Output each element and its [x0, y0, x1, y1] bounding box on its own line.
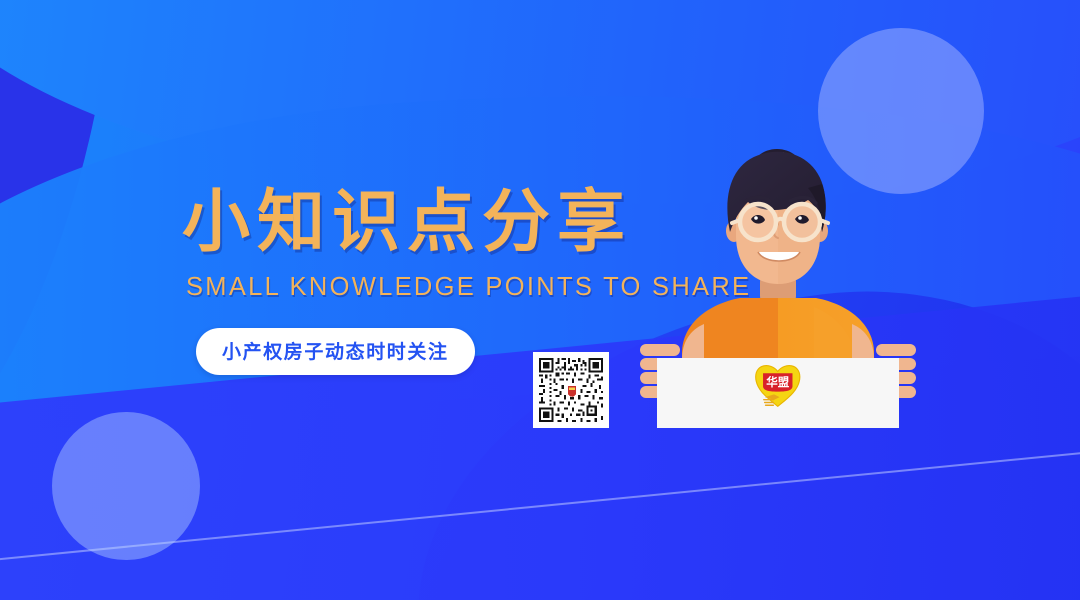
tagline-pill[interactable]: 小产权房子动态时时关注: [196, 328, 475, 375]
illustration-woman-holding-sign: 华盟: [612, 128, 942, 448]
qr-code-image: [537, 356, 605, 424]
background-circle-bottom-left: [52, 412, 200, 560]
qr-code[interactable]: [533, 352, 609, 428]
qr-center-logo: [566, 383, 578, 397]
page-title: 小知识点分享: [182, 186, 652, 259]
page-subtitle: SMALL KNOWLEDGE POINTS TO SHARE: [186, 273, 652, 302]
promo-banner: 小知识点分享 SMALL KNOWLEDGE POINTS TO SHARE 小…: [0, 0, 1080, 600]
sign-logo-text: 华盟: [766, 375, 789, 389]
headline-block: 小知识点分享 SMALL KNOWLEDGE POINTS TO SHARE 小…: [182, 186, 652, 375]
